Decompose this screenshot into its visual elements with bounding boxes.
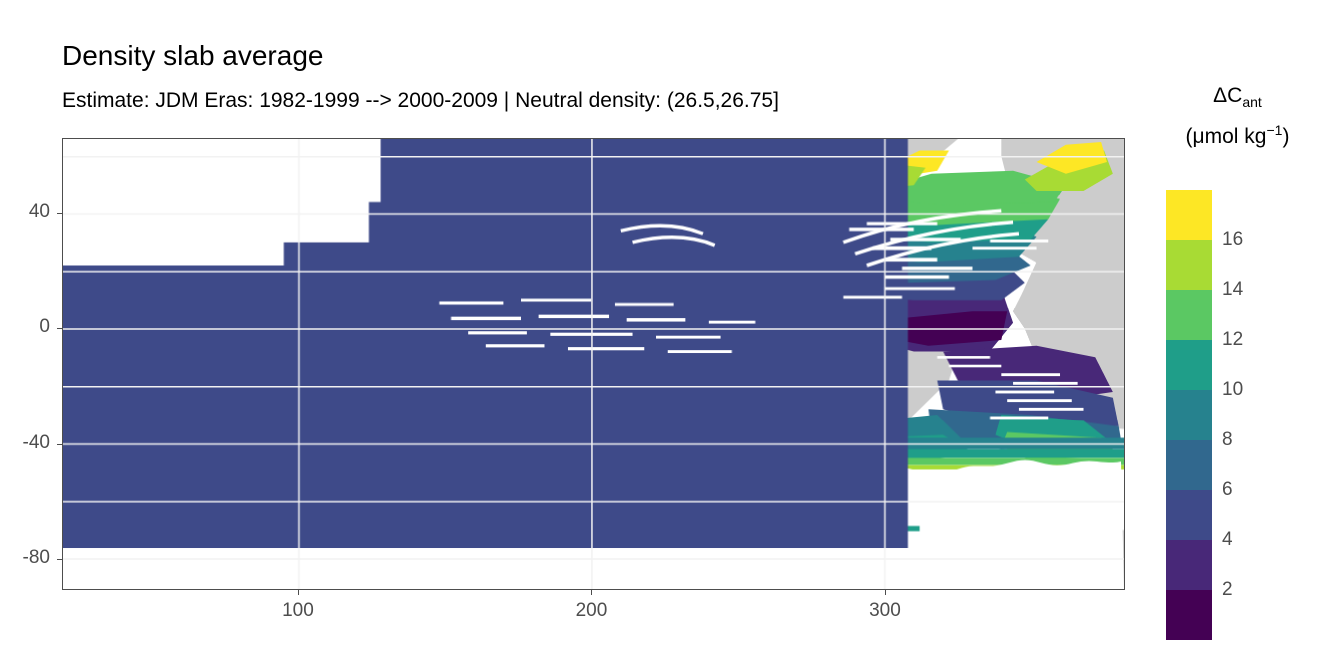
legend-title-line1: ΔCant <box>1150 82 1325 116</box>
colorbar-swatch <box>1166 390 1212 440</box>
x-tick-label: 300 <box>860 600 910 622</box>
colorbar-swatch <box>1166 190 1212 240</box>
y-tick-label: -80 <box>0 547 50 569</box>
map-panel <box>62 138 1125 590</box>
y-tick-mark <box>57 444 62 445</box>
colorbar-swatches <box>1166 190 1212 640</box>
x-tick-label: 200 <box>566 600 616 622</box>
legend-title-line2: (μmol kg−1) <box>1150 116 1325 151</box>
y-tick-label: 0 <box>0 316 50 338</box>
x-tick-label: 100 <box>273 600 323 622</box>
figure-root: Density slab average Estimate: JDM Eras:… <box>0 0 1344 672</box>
y-tick-label: 40 <box>0 201 50 223</box>
colorbar-tick-labels: 246810121416 <box>1222 190 1282 640</box>
legend-title-subscript: ant <box>1242 94 1261 110</box>
colorbar-tick-label: 2 <box>1222 579 1233 601</box>
legend-units-suffix: ) <box>1282 125 1289 148</box>
colorbar-tick-label: 12 <box>1222 329 1243 351</box>
y-tick-mark <box>57 328 62 329</box>
colorbar-swatch <box>1166 440 1212 490</box>
chart-subtitle: Estimate: JDM Eras: 1982-1999 --> 2000-2… <box>62 88 779 114</box>
colorbar-swatch <box>1166 340 1212 390</box>
legend-units-prefix: (μmol kg <box>1186 125 1267 148</box>
y-tick-label: -40 <box>0 432 50 454</box>
colorbar-tick-label: 6 <box>1222 479 1233 501</box>
x-tick-mark <box>298 590 299 595</box>
colorbar-tick-label: 4 <box>1222 529 1233 551</box>
x-tick-mark <box>591 590 592 595</box>
colorbar-tick-label: 8 <box>1222 429 1233 451</box>
colorbar-swatch <box>1166 240 1212 290</box>
colorbar-tick-label: 16 <box>1222 229 1243 251</box>
colorbar-swatch <box>1166 290 1212 340</box>
map-raster <box>63 139 1124 589</box>
colorbar-legend: ΔCant (μmol kg−1) 246810121416 <box>1150 82 1340 652</box>
page-title: Density slab average <box>62 40 323 72</box>
legend-title-symbol: ΔC <box>1213 84 1242 107</box>
colorbar-swatch <box>1166 540 1212 590</box>
legend-units-exponent: −1 <box>1266 122 1282 138</box>
x-tick-mark <box>885 590 886 595</box>
y-tick-mark <box>57 213 62 214</box>
y-tick-mark <box>57 559 62 560</box>
colorbar-tick-label: 10 <box>1222 379 1243 401</box>
colorbar-swatch <box>1166 590 1212 640</box>
colorbar-tick-label: 14 <box>1222 279 1243 301</box>
legend-title: ΔCant (μmol kg−1) <box>1150 82 1325 151</box>
colorbar-swatch <box>1166 490 1212 540</box>
